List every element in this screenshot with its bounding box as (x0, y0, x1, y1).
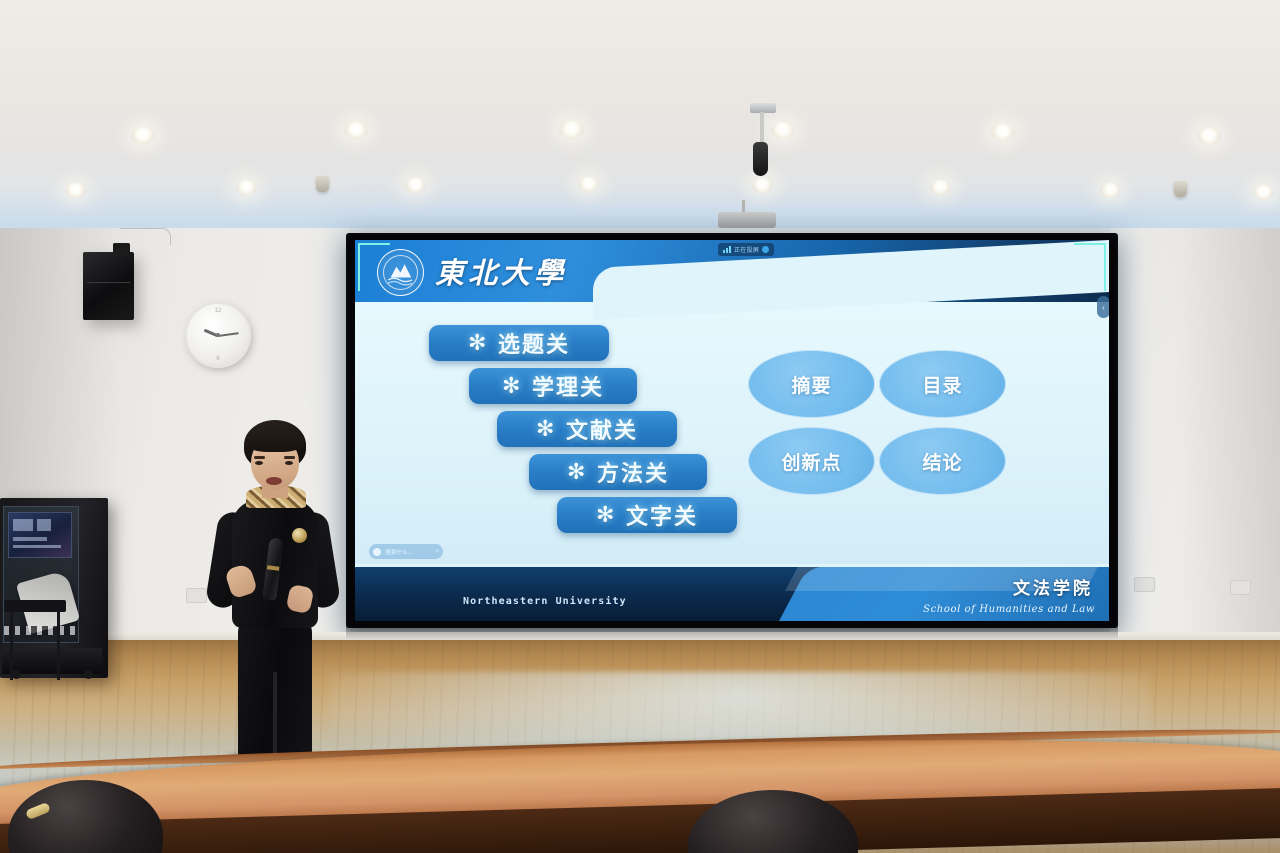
clock-center (216, 333, 220, 337)
ceiling-light (1197, 128, 1221, 145)
presenter-trousers (238, 620, 312, 760)
step-marker: ✻ (567, 460, 587, 485)
display-shadow (346, 626, 1118, 640)
ceiling-camera (753, 142, 768, 176)
ceiling (0, 0, 1280, 232)
stool-leg (57, 610, 60, 680)
ceiling-light (236, 180, 257, 195)
university-name-en: Northeastern University (463, 596, 627, 607)
close-icon[interactable]: × (435, 549, 439, 555)
search-placeholder: 搜索什么... (385, 548, 431, 556)
fire-sprinkler (1174, 181, 1187, 197)
school-name-en: School of Humanities and Law (923, 604, 1095, 615)
step-item-5: ✻ 文字关 (557, 497, 737, 533)
lecture-hall-photo: 12 6 東北大學 (0, 0, 1280, 853)
rack-preview-monitor (8, 512, 72, 558)
ceiling-light (344, 122, 368, 139)
presentation-slide[interactable]: 東北大學 正在投屏 ✻ 选题关 ✻ 学理关 ✻ 文献关 ✻ 方法关 ✻ 文字关 (355, 240, 1109, 621)
mountain-wave-icon (384, 256, 417, 289)
stool-leg (10, 610, 13, 680)
chevron-left-icon[interactable]: ‹ (1097, 296, 1109, 318)
search-circle-icon (373, 548, 381, 556)
ceiling-light (131, 127, 155, 144)
presenter-mouth (266, 477, 282, 485)
step-marker: ✻ (502, 374, 522, 399)
oval-group: 摘要 目录 创新点 结论 (748, 350, 1010, 495)
ceiling-light (405, 178, 426, 193)
step-label: 学理关 (532, 370, 604, 402)
step-item-2: ✻ 学理关 (469, 368, 637, 404)
ceiling-light (771, 122, 795, 139)
ceiling-light (991, 124, 1015, 141)
neu-seal-emblem (377, 249, 424, 296)
ceiling-light (559, 121, 584, 139)
step-label: 选题关 (498, 327, 570, 359)
wall-clock: 12 6 (185, 302, 251, 368)
presenter-eye (255, 461, 263, 465)
neu-seal-inner (383, 255, 418, 290)
cast-status-bar: 正在投屏 (718, 243, 774, 256)
wall-outlet (1230, 580, 1251, 595)
cast-icon (762, 246, 769, 253)
presenter-badge (292, 528, 307, 543)
oval-item-abstract: 摘要 (748, 350, 875, 418)
step-label: 文献关 (566, 413, 638, 445)
ceiling-projector (718, 212, 776, 228)
ceiling-light (578, 177, 599, 192)
step-item-3: ✻ 文献关 (497, 411, 677, 447)
staircase-list: ✻ 选题关 ✻ 学理关 ✻ 文献关 ✻ 方法关 ✻ 文字关 (429, 325, 759, 540)
oval-item-innovation: 创新点 (748, 427, 875, 495)
presenter (196, 420, 344, 760)
presenter-eye (285, 461, 293, 465)
ceiling-mount-rod (760, 112, 764, 146)
equipment-stool (4, 600, 66, 680)
step-item-1: ✻ 选题关 (429, 325, 609, 361)
step-item-4: ✻ 方法关 (529, 454, 707, 490)
slide-footer-band: 文法学院 School of Humanities and Law Northe… (355, 567, 1109, 621)
step-label: 方法关 (597, 456, 669, 488)
step-marker: ✻ (596, 503, 616, 528)
step-label: 文字关 (626, 499, 698, 531)
presenter-fringe (246, 430, 304, 452)
large-display-screen[interactable]: 東北大學 正在投屏 ✻ 选题关 ✻ 学理关 ✻ 文献关 ✻ 方法关 ✻ 文字关 (346, 233, 1118, 628)
rack-caster (84, 670, 93, 679)
ceiling-light (752, 178, 773, 193)
wall-speaker (83, 252, 134, 320)
oval-item-contents: 目录 (879, 350, 1006, 418)
signal-bars-icon (723, 246, 731, 253)
school-name-cn: 文法学院 (1013, 574, 1093, 599)
step-marker: ✻ (468, 331, 488, 356)
oval-item-conclusion: 结论 (879, 427, 1006, 495)
ceiling-light (65, 183, 86, 198)
ceiling-light (930, 180, 951, 195)
university-name-cn: 東北大學 (435, 250, 567, 292)
search-input[interactable]: 搜索什么... × (369, 544, 443, 559)
presenter-brow (254, 456, 265, 459)
cast-status-text: 正在投屏 (734, 245, 759, 254)
ceiling-light (1253, 185, 1274, 200)
step-marker: ✻ (536, 417, 556, 442)
presenter-brow (284, 456, 295, 459)
fire-sprinkler (316, 176, 329, 192)
clock-minute-hand (218, 332, 239, 337)
ceiling-light (1100, 183, 1121, 198)
wall-outlet (1134, 577, 1155, 592)
